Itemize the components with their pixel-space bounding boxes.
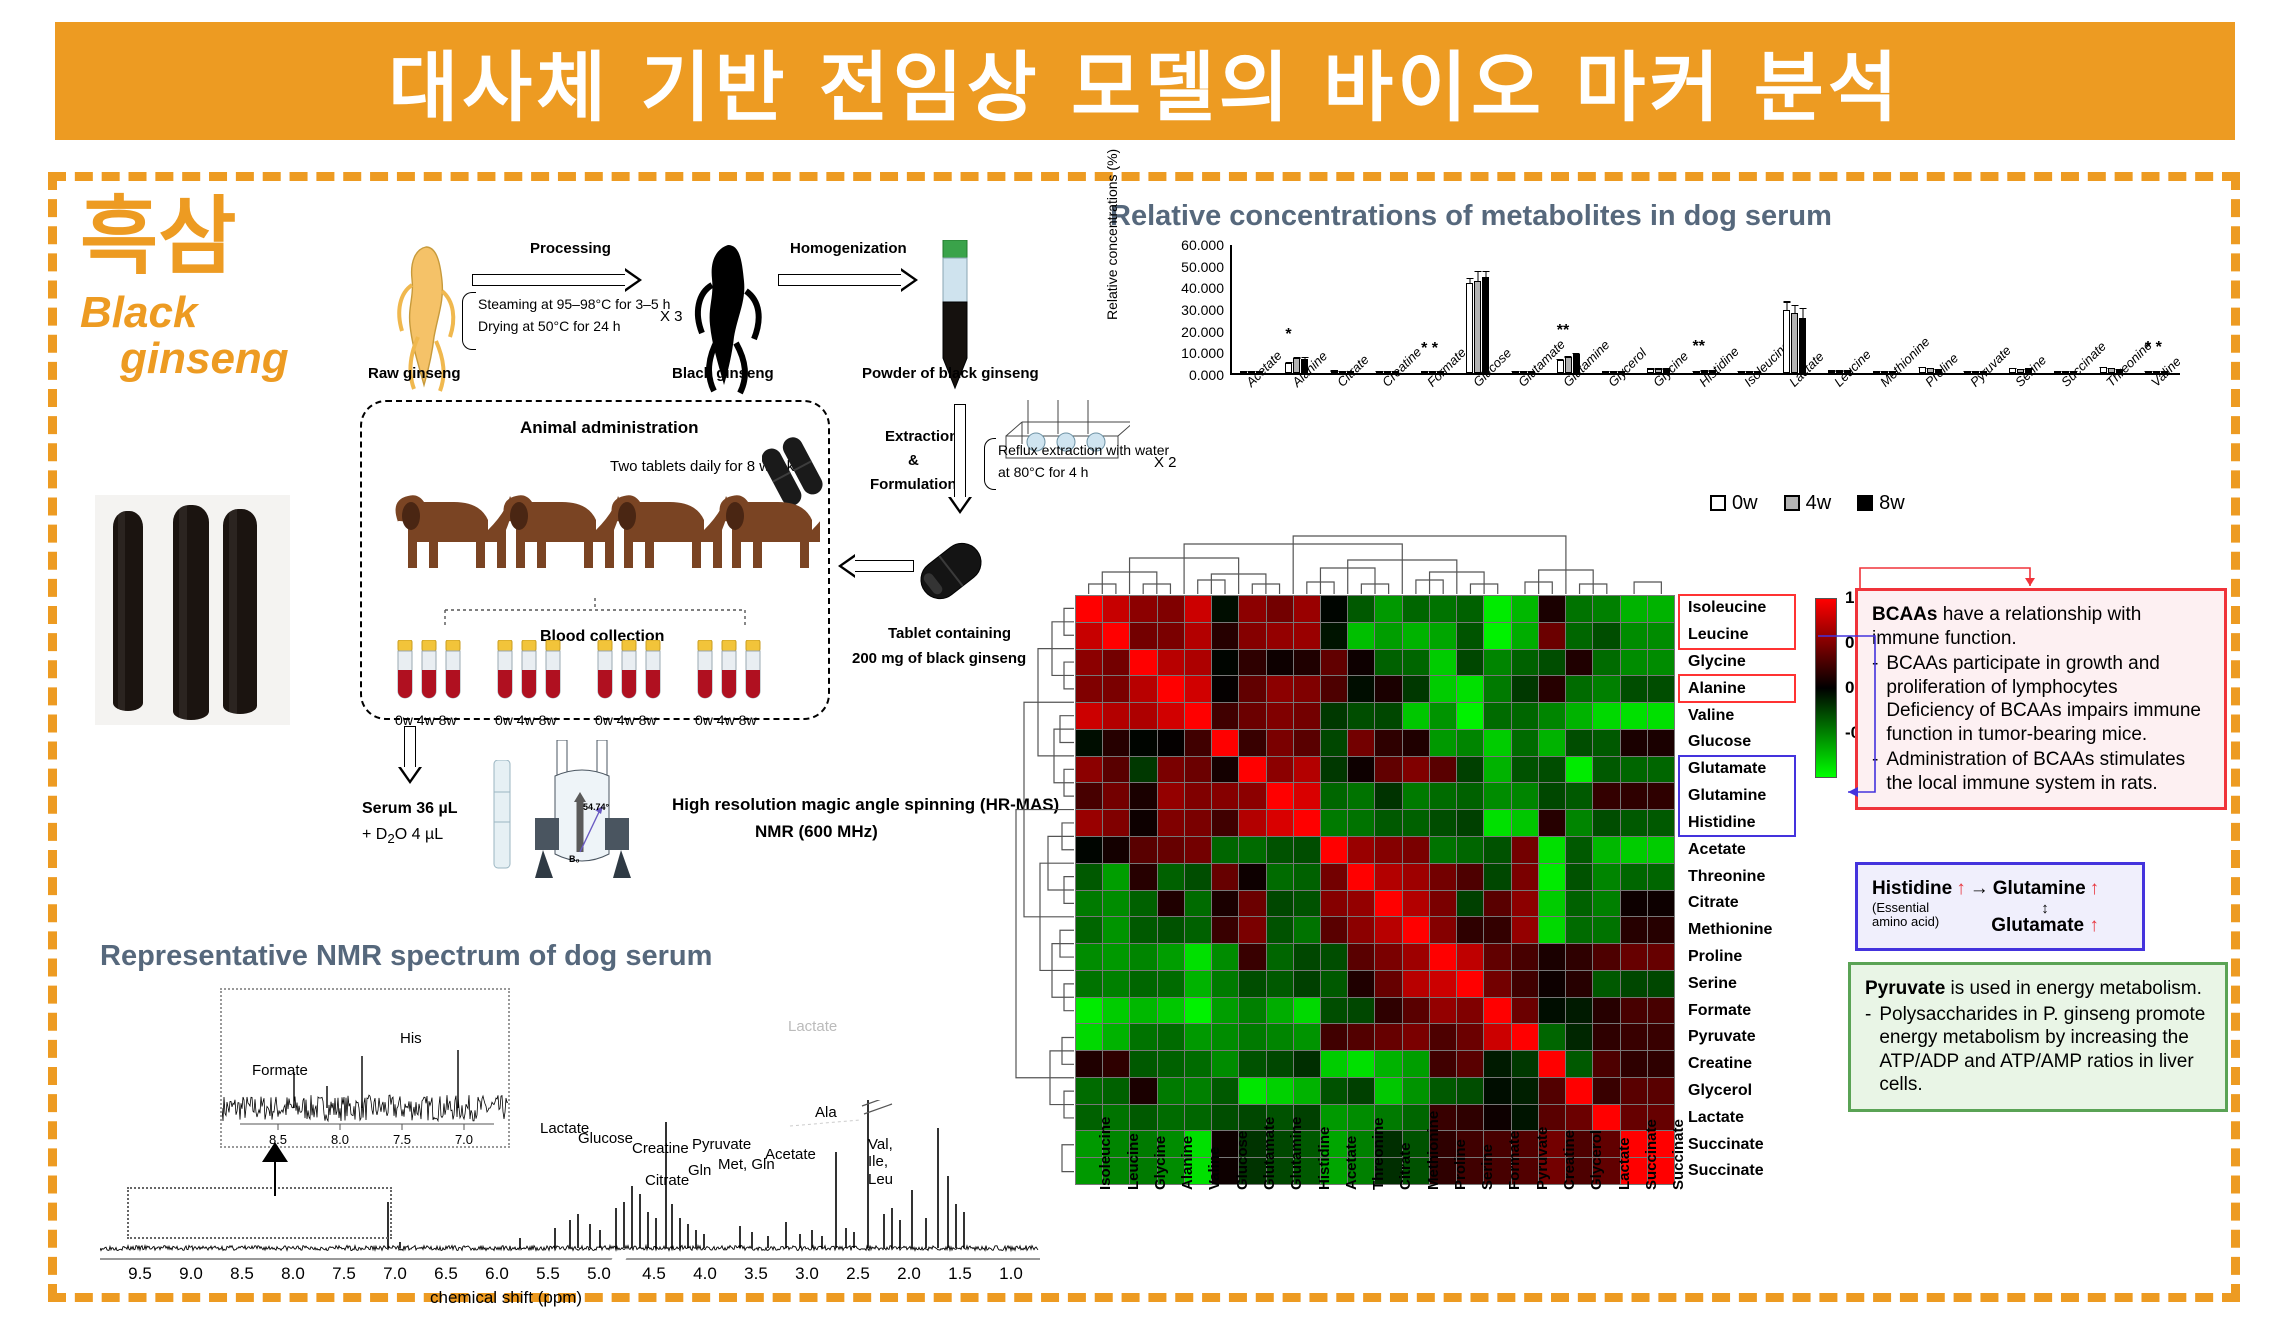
heatmap-column-dendrogram <box>1075 530 1675 594</box>
barchart-group <box>1602 245 1632 373</box>
heatmap-cell <box>1593 917 1619 943</box>
heatmap-cell <box>1539 810 1565 836</box>
heatmap-cell <box>1267 1024 1293 1050</box>
barchart-bar <box>1466 283 1473 373</box>
heatmap-cell <box>1130 944 1156 970</box>
barchart-group <box>2054 245 2084 373</box>
heatmap-cell <box>1158 810 1184 836</box>
heatmap-cell <box>1539 676 1565 702</box>
nmr-ppm-tick: 7.5 <box>332 1264 356 1284</box>
heatmap-cell <box>1212 623 1238 649</box>
heatmap-cell <box>1430 971 1456 997</box>
heatmap-cell <box>1566 998 1592 1024</box>
heatmap-cell <box>1321 757 1347 783</box>
heatmap-cell <box>1457 1078 1483 1104</box>
heatmap-row-label-succinate: Succinate <box>1682 1131 1802 1158</box>
heatmap-colorbar <box>1815 598 1837 778</box>
barchart-ytick: 0.000 <box>1189 367 1224 383</box>
heatmap-cell <box>1185 1024 1211 1050</box>
heatmap-cell <box>1512 676 1538 702</box>
heatmap-cell <box>1621 891 1647 917</box>
heatmap-cell <box>1621 676 1647 702</box>
heatmap-row-label-glycine: Glycine <box>1682 649 1802 676</box>
barchart-bar <box>1482 277 1489 373</box>
barchart-group <box>1557 245 1587 373</box>
barchart-group <box>2100 245 2130 373</box>
tablet-to-animal-arrow-icon <box>838 556 914 576</box>
processing-detail-line1: Steaming at 95–98°C for 3–5 h <box>478 296 670 312</box>
barchart-bar <box>2054 371 2061 373</box>
heatmap-cell <box>1294 1078 1320 1104</box>
barchart-group <box>1240 245 1270 373</box>
heatmap-cell <box>1321 783 1347 809</box>
heatmap-cell <box>1403 1051 1429 1077</box>
note-his-glutamate: Glutamate <box>1991 915 2084 936</box>
heatmap-cell <box>1158 944 1184 970</box>
brand-korean: 흑삼 <box>80 195 380 280</box>
note-his-sub1: (Essential <box>1872 901 1939 916</box>
legend-item-8w: 8w <box>1857 492 1905 515</box>
heatmap-cell <box>1348 650 1374 676</box>
heatmap-row-label-glutamine: Glutamine <box>1682 783 1802 810</box>
heatmap-row-label-threonine: Threonine <box>1682 863 1802 890</box>
heatmap-cell <box>1321 703 1347 729</box>
heatmap-cell <box>1294 837 1320 863</box>
barchart-bar <box>1474 281 1481 373</box>
barchart-ytick: 10.000 <box>1181 345 1224 361</box>
heatmap-cell <box>1212 1051 1238 1077</box>
heatmap-cell <box>1403 837 1429 863</box>
peak-val-ile-leu: Val,Ile,Leu <box>868 1136 893 1188</box>
heatmap-cell <box>1648 891 1674 917</box>
heatmap-cell <box>1621 971 1647 997</box>
heatmap-cell <box>1512 971 1538 997</box>
legend-item-0w: 0w <box>1710 492 1758 515</box>
heatmap-cell <box>1158 891 1184 917</box>
heatmap-cell <box>1457 810 1483 836</box>
heatmap-cell <box>1321 596 1347 622</box>
heatmap-cell <box>1103 757 1129 783</box>
barchart-ylabel: Relative concentrations (%) <box>1104 149 1120 320</box>
processing-arrow-icon <box>472 270 642 290</box>
heatmap-cell <box>1457 837 1483 863</box>
heatmap-cell <box>1212 917 1238 943</box>
heatmap-cell <box>1158 596 1184 622</box>
heatmap-cell <box>1185 676 1211 702</box>
heatmap-cell <box>1158 1024 1184 1050</box>
nmr-ppm-tick: 4.0 <box>693 1264 717 1284</box>
processing-label: Processing <box>530 240 611 257</box>
heatmap-cell <box>1212 891 1238 917</box>
barchart-bar <box>1647 368 1654 373</box>
barchart-group <box>1964 245 1994 373</box>
heatmap-cell <box>1566 971 1592 997</box>
heatmap-cell <box>1212 650 1238 676</box>
barchart-errorbar <box>1922 367 1923 368</box>
peak-acetate: Acetate <box>765 1146 816 1163</box>
heatmap-cell <box>1621 864 1647 890</box>
bullet-dash: - <box>1865 1003 1871 1097</box>
black-ginseng-label: Black ginseng <box>672 365 774 382</box>
barchart-errorbar <box>1304 357 1305 360</box>
heatmap-col-label-formate: Formate <box>1506 1131 1523 1190</box>
blood-tube-icon <box>695 640 715 708</box>
heatmap-cell <box>1130 783 1156 809</box>
heatmap-col-label-acetate: Acetate <box>1343 1136 1360 1190</box>
barchart-errorbar <box>2057 371 2058 372</box>
heatmap-cell <box>1648 917 1674 943</box>
heatmap-cell <box>1348 757 1374 783</box>
heatmap-row-labels: IsoleucineLeucineGlycineAlanineValineGlu… <box>1682 595 1802 1185</box>
heatmap-cell <box>1321 676 1347 702</box>
heatmap-row-label-isoleucine: Isoleucine <box>1682 595 1802 622</box>
heatmap-cell <box>1348 864 1374 890</box>
heatmap-cell <box>1103 703 1129 729</box>
heatmap-cell <box>1593 676 1619 702</box>
hrmas-line2: NMR (600 MHz) <box>755 822 878 842</box>
heatmap-cell <box>1130 730 1156 756</box>
heatmap-cell <box>1103 971 1129 997</box>
page-title: 대사체 기반 전임상 모델의 바이오 마커 분석 <box>388 26 1901 136</box>
heatmap-cell <box>1430 998 1456 1024</box>
nmr-xlabel: chemical shift (ppm) <box>430 1288 582 1308</box>
heatmap-cell <box>1403 891 1429 917</box>
heatmap-cell <box>1294 810 1320 836</box>
nmr-ppm-tick: 2.0 <box>897 1264 921 1284</box>
note-bcaa-bullet-1: Administration of BCAAs stimulates the l… <box>1886 748 2210 795</box>
serum-line1: Serum 36 µL <box>362 800 457 818</box>
heatmap-cell <box>1158 783 1184 809</box>
nmr-ppm-tick: 5.0 <box>587 1264 611 1284</box>
svg-text:B₀: B₀ <box>569 854 580 864</box>
heatmap-cell <box>1130 757 1156 783</box>
heatmap-cell <box>1593 998 1619 1024</box>
heatmap-cell <box>1076 650 1102 676</box>
heatmap-cell <box>1512 730 1538 756</box>
heatmap-cell <box>1130 810 1156 836</box>
heatmap-cell <box>1648 837 1674 863</box>
heatmap-cell <box>1103 783 1129 809</box>
heatmap-cell <box>1593 650 1619 676</box>
heatmap-cell <box>1403 1024 1429 1050</box>
heatmap-row-label-glutamate: Glutamate <box>1682 756 1802 783</box>
nmr-zoom-pointer-icon <box>258 1140 292 1196</box>
heatmap-cell <box>1103 944 1129 970</box>
heatmap-cell <box>1539 650 1565 676</box>
heatmap-cell <box>1403 623 1429 649</box>
barchart-errorbar <box>1876 371 1877 372</box>
heatmap-cell <box>1539 783 1565 809</box>
heatmap-cell <box>1212 676 1238 702</box>
barchart-ytick: 30.000 <box>1181 302 1224 318</box>
peak-creatine: Creatine <box>632 1140 689 1157</box>
note-pyruvate: Pyruvate is used in energy metabolism. -… <box>1848 962 2228 1112</box>
heatmap-cell <box>1294 944 1320 970</box>
heatmap-cell <box>1239 917 1265 943</box>
heatmap-cell <box>1375 730 1401 756</box>
heatmap-cell <box>1185 864 1211 890</box>
heatmap-cell <box>1375 891 1401 917</box>
raw-ginseng-label: Raw ginseng <box>368 365 461 382</box>
heatmap-cell <box>1158 650 1184 676</box>
barchart-bar <box>1602 371 1609 373</box>
note-bcaa: BCAAs have a relationship with immune fu… <box>1855 588 2227 810</box>
heatmap-cell <box>1158 998 1184 1024</box>
heatmap-cell <box>1321 971 1347 997</box>
barchart-errorbar <box>1967 371 1968 372</box>
barchart-errorbar <box>1741 371 1742 372</box>
heatmap-cell <box>1321 944 1347 970</box>
heatmap-cell <box>1593 944 1619 970</box>
heatmap-col-label-citrate: Citrate <box>1397 1142 1414 1190</box>
heatmap-cell <box>1457 676 1483 702</box>
heatmap-cell <box>1430 783 1456 809</box>
heatmap-cell <box>1321 864 1347 890</box>
barchart-errorbar <box>1786 301 1787 311</box>
heatmap-cell <box>1375 971 1401 997</box>
heatmap-cell <box>1512 1078 1538 1104</box>
heatmap-col-label-proline: Proline <box>1452 1139 1469 1190</box>
nmr-ppm-tick: 1.0 <box>999 1264 1023 1284</box>
heatmap-cell <box>1267 891 1293 917</box>
heatmap-col-label-alanine: Alanine <box>1179 1136 1196 1190</box>
heatmap-cell <box>1103 650 1129 676</box>
heatmap-cell <box>1430 810 1456 836</box>
heatmap-cell <box>1648 676 1674 702</box>
barchart-group <box>1828 245 1858 373</box>
legend-item-4w: 4w <box>1784 492 1832 515</box>
animal-admin-label: Animal administration <box>520 418 699 438</box>
inset-peak-formate: Formate <box>252 1062 308 1079</box>
barchart-group <box>1738 245 1768 373</box>
heatmap-cell <box>1267 703 1293 729</box>
heatmap-cell <box>1539 757 1565 783</box>
heatmap-cell <box>1130 864 1156 890</box>
heatmap-cell <box>1566 650 1592 676</box>
heatmap-cell <box>1348 837 1374 863</box>
heatmap-cell <box>1348 998 1374 1024</box>
heatmap-col-label-threonine: Threonine <box>1370 1117 1387 1190</box>
heatmap-cell <box>1539 837 1565 863</box>
barchart-group <box>1647 245 1677 373</box>
heatmap-cell <box>1130 1105 1156 1131</box>
heatmap-cell <box>1648 998 1674 1024</box>
heatmap-cell <box>1539 596 1565 622</box>
barchart-bar <box>1331 370 1338 373</box>
heatmap-cell <box>1621 998 1647 1024</box>
heatmap-cell <box>1185 650 1211 676</box>
nmr-ppm-tick: 1.5 <box>948 1264 972 1284</box>
heatmap-cell <box>1130 1051 1156 1077</box>
heatmap-row-label-leucine: Leucine <box>1682 622 1802 649</box>
heatmap-cell <box>1484 971 1510 997</box>
heatmap-cell <box>1648 1024 1674 1050</box>
barchart-bar <box>1791 313 1798 373</box>
heatmap-col-label-valine: Valine <box>1206 1147 1223 1190</box>
nmr-ppm-tick: 3.5 <box>744 1264 768 1284</box>
heatmap-cell <box>1239 676 1265 702</box>
nmr-axis <box>100 1258 1040 1260</box>
heatmap-cell <box>1484 837 1510 863</box>
heatmap-cell <box>1593 1051 1619 1077</box>
heatmap-row-label-citrate: Citrate <box>1682 890 1802 917</box>
heatmap-cell <box>1212 944 1238 970</box>
heatmap-cell <box>1076 1024 1102 1050</box>
heatmap-cell <box>1457 703 1483 729</box>
note-his-sub2: amino acid) <box>1872 915 1939 930</box>
heatmap-cell <box>1076 1051 1102 1077</box>
heatmap-col-label-serine: Serine <box>1479 1144 1496 1190</box>
heatmap-cell <box>1512 944 1538 970</box>
blood-collection-connector <box>425 598 765 630</box>
heatmap-cell <box>1294 1051 1320 1077</box>
heatmap-cell <box>1430 1078 1456 1104</box>
heatmap-cell <box>1484 783 1510 809</box>
heatmap-cell <box>1457 596 1483 622</box>
blood-tube-icon <box>519 640 539 708</box>
barchart-legend: 0w4w8w <box>1710 492 1905 515</box>
brand-english-line1: Black <box>80 290 380 336</box>
barchart-ytick: 60.000 <box>1181 237 1224 253</box>
heatmap-cell <box>1375 676 1401 702</box>
heatmap-cell <box>1321 623 1347 649</box>
heatmap-cell <box>1375 1024 1401 1050</box>
note-his-arrow-icon: → <box>1970 877 1989 901</box>
heatmap-cell <box>1076 944 1102 970</box>
heatmap-cell <box>1484 596 1510 622</box>
heatmap-cell <box>1212 703 1238 729</box>
heatmap-cell <box>1348 971 1374 997</box>
heatmap-cell <box>1239 1051 1265 1077</box>
tube-timepoint-label: 0w 4w 8w <box>595 712 656 728</box>
heatmap-cell <box>1103 730 1129 756</box>
heatmap-cell <box>1103 596 1129 622</box>
heatmap-cell <box>1457 650 1483 676</box>
heatmap-row-label-alanine: Alanine <box>1682 675 1802 702</box>
barchart-errorbar <box>1696 371 1697 372</box>
heatmap-cell <box>1239 1078 1265 1104</box>
heatmap-cell <box>1512 864 1538 890</box>
heatmap-cell <box>1158 623 1184 649</box>
heatmap-row-label-valine: Valine <box>1682 702 1802 729</box>
heatmap-cell <box>1348 596 1374 622</box>
heatmap-cell <box>1539 1051 1565 1077</box>
heatmap-cell <box>1294 596 1320 622</box>
processing-detail-line2: Drying at 50°C for 24 h <box>478 318 621 334</box>
barchart-bar <box>1828 370 1835 373</box>
barchart-bar <box>1285 363 1292 373</box>
heatmap-cell <box>1321 810 1347 836</box>
heatmap-cell <box>1130 998 1156 1024</box>
heatmap-cell <box>1539 998 1565 1024</box>
heatmap-cell <box>1130 596 1156 622</box>
blood-tubes-row <box>395 640 795 710</box>
heatmap-cell <box>1076 864 1102 890</box>
heatmap-cell <box>1294 676 1320 702</box>
heatmap-cell <box>1512 623 1538 649</box>
heatmap-cell <box>1185 998 1211 1024</box>
heatmap-cell <box>1593 1078 1619 1104</box>
nmr-ppm-tick: 3.0 <box>795 1264 819 1284</box>
heatmap-cell <box>1375 1078 1401 1104</box>
heatmap-cell <box>1621 650 1647 676</box>
heatmap-cell <box>1648 703 1674 729</box>
legend-label-8w: 8w <box>1879 492 1905 514</box>
heatmap-cell <box>1403 971 1429 997</box>
heatmap-cell <box>1484 891 1510 917</box>
heatmap-cell <box>1239 596 1265 622</box>
heatmap-cell <box>1512 837 1538 863</box>
heatmap-cell <box>1212 757 1238 783</box>
barchart-group <box>2009 245 2039 373</box>
heatmap-cell <box>1130 917 1156 943</box>
heatmap-cell <box>1239 971 1265 997</box>
heatmap-cell <box>1076 596 1102 622</box>
barchart-bar <box>2009 368 2016 373</box>
heatmap-cell <box>1076 891 1102 917</box>
heatmap-row-label-glycerol: Glycerol <box>1682 1078 1802 1105</box>
heatmap-cell <box>1103 917 1129 943</box>
barchart-bar <box>2100 367 2107 373</box>
heatmap-cell <box>1566 944 1592 970</box>
barchart-errorbar <box>1334 370 1335 371</box>
heatmap-cell <box>1566 891 1592 917</box>
heatmap-cell <box>1403 810 1429 836</box>
heatmap-cell <box>1239 730 1265 756</box>
nmr-ppm-tick: 4.5 <box>642 1264 666 1284</box>
heatmap-cell <box>1185 623 1211 649</box>
heatmap-cell <box>1512 917 1538 943</box>
heatmap-cell <box>1239 757 1265 783</box>
barchart-ytick: 50.000 <box>1181 259 1224 275</box>
heatmap-cell <box>1294 757 1320 783</box>
nmr-ppm-tick: 9.5 <box>128 1264 152 1284</box>
heatmap-cell <box>1130 837 1156 863</box>
homogenization-label: Homogenization <box>790 240 907 257</box>
heatmap-cell <box>1484 730 1510 756</box>
heatmap-cell <box>1212 1024 1238 1050</box>
heatmap-cell <box>1375 864 1401 890</box>
significance-marker: ** <box>1693 338 1705 356</box>
heatmap-cell <box>1239 864 1265 890</box>
heatmap-cell <box>1457 1051 1483 1077</box>
heatmap-cell <box>1294 998 1320 1024</box>
nmr-rotor-tube-icon <box>490 760 514 870</box>
heatmap-cell <box>1185 1078 1211 1104</box>
nmr-ppm-tick: 6.5 <box>434 1264 458 1284</box>
barchart-errorbar <box>1605 371 1606 372</box>
blood-tube-icon <box>495 640 515 708</box>
heatmap-cell <box>1403 730 1429 756</box>
heatmap-cell <box>1212 1078 1238 1104</box>
heatmap-cell <box>1348 891 1374 917</box>
heatmap-cell <box>1593 810 1619 836</box>
heatmap-cell <box>1294 730 1320 756</box>
heatmap-cell <box>1430 1051 1456 1077</box>
heatmap-cell <box>1212 864 1238 890</box>
heatmap-col-label-leucine: Leucine <box>1125 1133 1142 1190</box>
heatmap-cell <box>1321 1024 1347 1050</box>
reflux-line2: at 80°C for 4 h <box>998 464 1088 480</box>
heatmap-cell <box>1484 757 1510 783</box>
homogenization-arrow-icon <box>778 270 918 290</box>
heatmap-cell <box>1348 917 1374 943</box>
heatmap-cell <box>1185 971 1211 997</box>
heatmap-cell <box>1375 757 1401 783</box>
barchart-ytick: 20.000 <box>1181 324 1224 340</box>
heatmap-cell <box>1348 1078 1374 1104</box>
heatmap-cell <box>1294 623 1320 649</box>
